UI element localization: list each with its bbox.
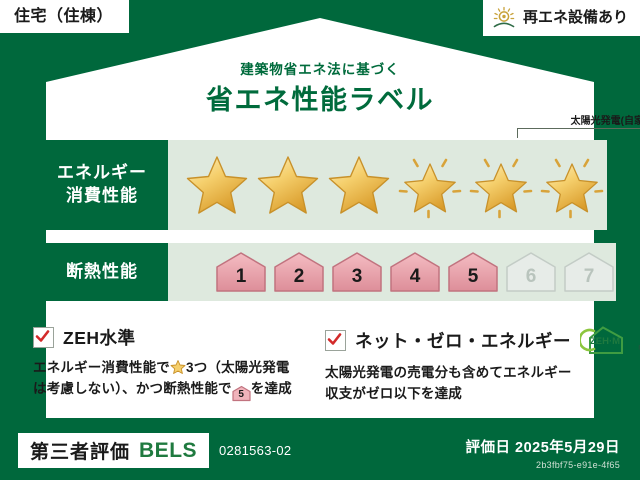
insulation-grade-badge: 1: [214, 250, 268, 294]
check-icon: [35, 329, 50, 344]
footer-right: 評価日 2025年5月29日 2b3fbf75-e91e-4f65: [466, 436, 620, 470]
evaluation-date-value: 2025年5月29日: [515, 440, 620, 456]
insulation-grade-scale: 1 2 3 4 5: [168, 250, 616, 294]
document-hash: 2b3fbf75-e91e-4f65: [466, 460, 620, 470]
net-zero-energy-section: ネット・ゼロ・エネルギー ZEH·M 「ZEH-M」 太陽光発電の売電分も含めて…: [325, 325, 600, 405]
energy-label-root: 住宅（住棟） 再エネ設備あり 建築物省エネ法に基づく 省エネ性能ラベル エネルギ…: [0, 0, 640, 480]
insulation-grade-value: 2: [294, 266, 305, 294]
energy-performance-row: エネルギー 消費性能 太陽光発電(自家消費)分: [36, 140, 604, 230]
insulation-grade-value: 6: [526, 266, 537, 294]
net-zero-energy-header: ネット・ゼロ・エネルギー ZEH·M 「ZEH-M」: [325, 325, 600, 355]
star-plain: [324, 150, 394, 220]
zeh-m-logo-caption: 「ZEH-M」: [635, 344, 640, 355]
insulation-row-label-text: 断熱性能: [66, 261, 138, 284]
bels-certification-box: 第三者評価 BELS: [18, 433, 209, 468]
insulation-performance-row: 断熱性能 1 2 3 4: [36, 243, 604, 301]
inline-star-icon: [170, 359, 186, 375]
star-plain: [253, 150, 323, 220]
zeh-standard-text-2: 3つ（太陽光発電: [186, 360, 290, 375]
star-solar: [466, 150, 536, 220]
inline-grade5-badge: 5: [232, 385, 251, 402]
insulation-grade-badge: 5: [446, 250, 500, 294]
evaluation-date: 評価日 2025年5月29日: [466, 436, 620, 457]
check-icon: [327, 332, 342, 347]
insulation-grade-badge-inactive: 7: [562, 250, 616, 294]
energy-row-body: 太陽光発電(自家消費)分: [168, 140, 607, 230]
insulation-row-body: 1 2 3 4 5: [168, 243, 616, 301]
svg-text:ZEH·M: ZEH·M: [590, 336, 620, 347]
insulation-grade-badge: 2: [272, 250, 326, 294]
renewable-badge-label: 再エネ設備あり: [523, 9, 628, 27]
star-solar: [395, 150, 465, 220]
net-zero-energy-text-1: 太陽光発電の売電分も含めてエネルギー: [325, 365, 572, 380]
bels-logo-text: BELS: [139, 439, 197, 463]
net-zero-energy-text-2: 収支がゼロ以下を達成: [325, 386, 462, 401]
zeh-m-logo-icon: ZEH·M: [580, 325, 626, 355]
zeh-standard-title: ZEH水準: [63, 325, 136, 350]
insulation-grade-value: 5: [468, 266, 479, 294]
energy-row-label-line2: 消費性能: [66, 185, 138, 208]
insulation-row-label: 断熱性能: [36, 243, 168, 301]
building-type-label: 住宅（住棟）: [14, 8, 113, 25]
insulation-grade-badge-inactive: 6: [504, 250, 558, 294]
insulation-grade-value: 3: [352, 266, 363, 294]
energy-star-rating: [168, 150, 607, 220]
inline-grade5-value: 5: [232, 385, 251, 404]
footer-left: 第三者評価 BELS 0281563-02: [18, 433, 291, 468]
net-zero-energy-body: 太陽光発電の売電分も含めてエネルギー収支がゼロ以下を達成: [325, 363, 600, 405]
solar-annotation-label: 太陽光発電(自家消費)分: [517, 112, 640, 127]
zeh-standard-text-4: を達成: [251, 381, 292, 396]
insulation-grade-value: 1: [236, 266, 247, 294]
star-plain: [182, 150, 252, 220]
sun-icon: [491, 6, 517, 30]
third-party-eval-label: 第三者評価: [30, 437, 130, 464]
zeh-standard-checkbox[interactable]: [33, 327, 54, 348]
zeh-standard-text-1: エネルギー消費性能で: [33, 360, 170, 375]
zeh-standard-header: ZEH水準: [33, 325, 295, 350]
zeh-standard-text-3: は考慮しない）、かつ断熱性能で: [33, 381, 232, 396]
building-type-tag: 住宅（住棟）: [0, 0, 129, 33]
insulation-grade-value: 7: [584, 266, 595, 294]
label-subtitle: 建築物省エネ法に基づく: [0, 58, 640, 78]
star-solar: [537, 150, 607, 220]
zeh-standard-section: ZEH水準 エネルギー消費性能で3つ（太陽光発電は考慮しない）、かつ断熱性能で5…: [33, 325, 295, 402]
net-zero-energy-title: ネット・ゼロ・エネルギー: [355, 328, 571, 353]
insulation-grade-badge: 4: [388, 250, 442, 294]
evaluation-date-label: 評価日: [466, 440, 511, 456]
solar-annotation-bracket: [517, 128, 640, 138]
energy-row-label-line1: エネルギー: [57, 162, 147, 185]
insulation-grade-badge: 3: [330, 250, 384, 294]
zeh-standard-body: エネルギー消費性能で3つ（太陽光発電は考慮しない）、かつ断熱性能で5を達成: [33, 358, 295, 402]
net-zero-energy-checkbox[interactable]: [325, 330, 346, 351]
energy-row-label: エネルギー 消費性能: [36, 140, 168, 230]
certificate-number: 0281563-02: [219, 443, 291, 458]
insulation-grade-value: 4: [410, 266, 421, 294]
renewable-energy-badge: 再エネ設備あり: [483, 0, 640, 36]
